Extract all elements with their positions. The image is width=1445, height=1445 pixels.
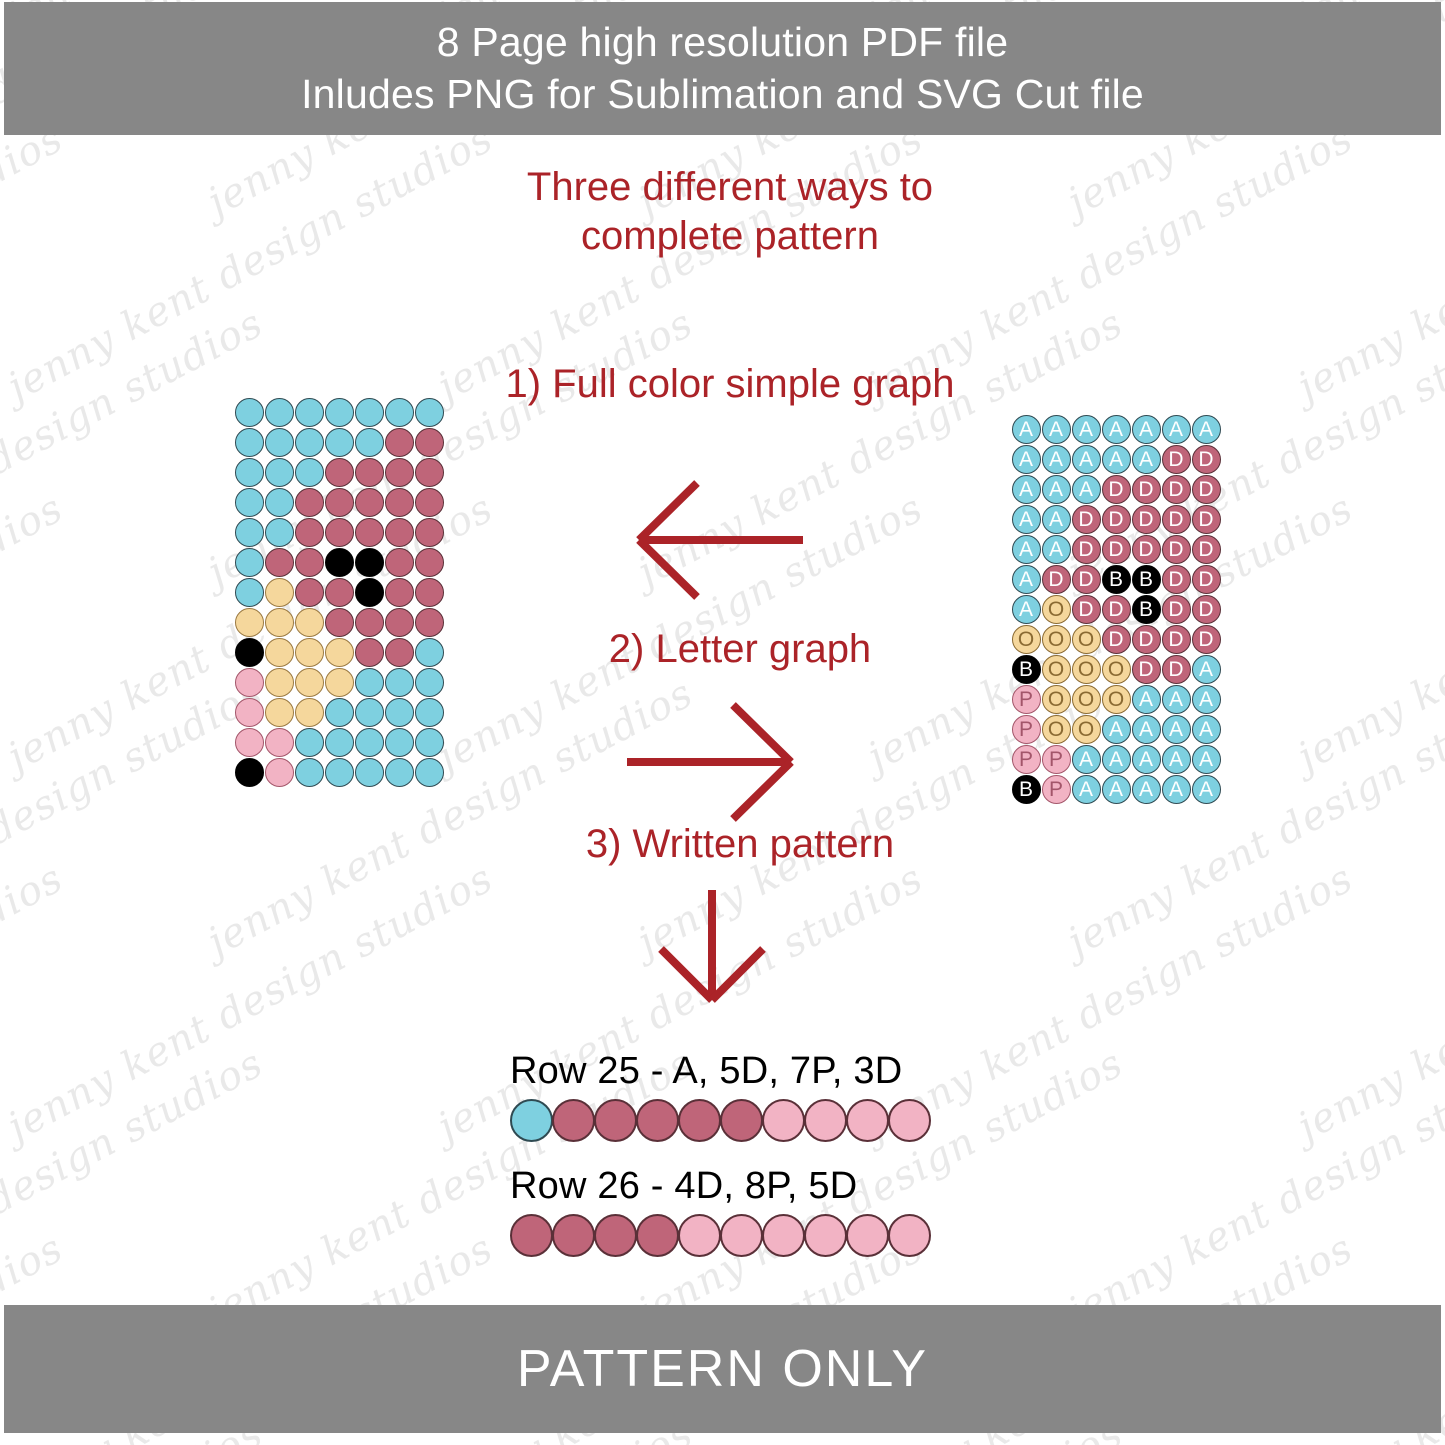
bead-grid-row: AAAAADD xyxy=(1011,444,1221,474)
bead-grid-row xyxy=(234,727,444,757)
bead-grid-row xyxy=(234,427,444,457)
bead-O: O xyxy=(1072,685,1101,714)
bead-grid-row xyxy=(234,607,444,637)
written-row-25-label: Row 25 - A, 5D, 7P, 3D xyxy=(510,1050,930,1093)
bead-A: A xyxy=(1192,415,1221,444)
bead-B xyxy=(235,758,264,787)
bead-D: D xyxy=(1042,565,1071,594)
bead-O xyxy=(265,698,294,727)
bead-A xyxy=(265,428,294,457)
bead-D: D xyxy=(1132,475,1161,504)
bead-A xyxy=(415,398,444,427)
arrow-down-icon xyxy=(655,885,780,1010)
step-3-label: 3) Written pattern xyxy=(530,820,950,869)
bead-A xyxy=(295,758,324,787)
bead-B: B xyxy=(1132,595,1161,624)
bead-A xyxy=(355,398,384,427)
bead-D: D xyxy=(1072,565,1101,594)
bead-O: O xyxy=(1072,625,1101,654)
bead-A xyxy=(235,548,264,577)
bead-A: A xyxy=(1072,775,1101,804)
bead-A xyxy=(325,758,354,787)
top-banner: 8 Page high resolution PDF file Inludes … xyxy=(4,2,1441,135)
bead-P xyxy=(720,1214,763,1257)
bead-A: A xyxy=(1132,715,1161,744)
watermark-text: jenny kent design studios xyxy=(0,855,71,1150)
bead-D xyxy=(415,578,444,607)
watermark-text: jenny kent design studios xyxy=(0,855,501,1150)
written-row-26-beads xyxy=(510,1214,930,1257)
bead-D xyxy=(415,488,444,517)
arrow-right-icon xyxy=(625,700,805,825)
bead-A xyxy=(415,758,444,787)
bead-grid-row: OOODDDD xyxy=(1011,624,1221,654)
watermark-text: jenny kent design studios xyxy=(0,1040,271,1335)
bead-A: A xyxy=(1162,715,1191,744)
bead-P: P xyxy=(1012,685,1041,714)
bead-D: D xyxy=(1162,625,1191,654)
bead-A: A xyxy=(1072,475,1101,504)
instructions-title: Three different ways to complete pattern xyxy=(520,163,940,261)
bead-D: D xyxy=(1162,595,1191,624)
bead-A xyxy=(355,758,384,787)
watermark-text: jenny kent design studios xyxy=(1290,485,1445,780)
bead-D xyxy=(355,608,384,637)
bead-D xyxy=(325,608,354,637)
bead-B xyxy=(235,638,264,667)
bead-grid-row xyxy=(234,577,444,607)
bead-A xyxy=(295,458,324,487)
bead-D xyxy=(385,608,414,637)
bead-A xyxy=(235,578,264,607)
bead-D xyxy=(385,428,414,457)
watermark-text: jenny kent design studios xyxy=(1290,855,1445,1150)
bead-A: A xyxy=(1192,655,1221,684)
bead-A xyxy=(295,398,324,427)
bead-A: A xyxy=(1012,595,1041,624)
bead-P xyxy=(265,758,294,787)
bead-P xyxy=(846,1214,889,1257)
bead-A xyxy=(415,638,444,667)
bead-A: A xyxy=(1192,685,1221,714)
bead-P: P xyxy=(1042,745,1071,774)
bead-D: D xyxy=(1102,625,1131,654)
bead-D xyxy=(355,518,384,547)
bead-O xyxy=(325,638,354,667)
bead-grid-row xyxy=(234,397,444,427)
bead-A xyxy=(235,488,264,517)
bead-A xyxy=(265,398,294,427)
bead-O: O xyxy=(1012,625,1041,654)
letter-graph: AAAAAAAAAAAADDAAADDDDAADDDDDAADDDDDADDBB… xyxy=(1011,414,1221,804)
bead-O: O xyxy=(1102,655,1131,684)
watermark-text: jenny kent design studios xyxy=(1290,115,1445,410)
bead-grid-row xyxy=(234,547,444,577)
bead-A xyxy=(385,758,414,787)
bead-P xyxy=(762,1214,805,1257)
bead-D xyxy=(325,458,354,487)
bead-A xyxy=(385,668,414,697)
bead-D: D xyxy=(1102,595,1131,624)
bead-O: O xyxy=(1102,685,1131,714)
written-pattern-row-25: Row 25 - A, 5D, 7P, 3D xyxy=(510,1050,930,1142)
written-row-26-label: Row 26 - 4D, 8P, 5D xyxy=(510,1165,930,1208)
bead-A: A xyxy=(1102,745,1131,774)
bead-A: A xyxy=(1012,505,1041,534)
bead-O xyxy=(265,578,294,607)
bead-A xyxy=(295,728,324,757)
arrow-left-icon xyxy=(625,478,805,603)
bead-P: P xyxy=(1042,775,1071,804)
bead-A: A xyxy=(1162,775,1191,804)
bead-A xyxy=(325,728,354,757)
bead-D: D xyxy=(1162,535,1191,564)
bead-grid-row: PPAAAAA xyxy=(1011,744,1221,774)
bead-O xyxy=(265,668,294,697)
bead-D: D xyxy=(1192,535,1221,564)
bead-B xyxy=(355,578,384,607)
bead-A xyxy=(355,698,384,727)
bead-grid-row xyxy=(234,757,444,787)
bead-D xyxy=(415,548,444,577)
bead-A xyxy=(355,668,384,697)
written-row-25-beads xyxy=(510,1099,930,1142)
bead-grid-row xyxy=(234,457,444,487)
bead-D xyxy=(385,518,414,547)
bead-A: A xyxy=(1072,745,1101,774)
bead-D: D xyxy=(1072,535,1101,564)
bead-A xyxy=(355,728,384,757)
bead-P xyxy=(804,1099,847,1142)
bead-A: A xyxy=(1012,445,1041,474)
bead-A: A xyxy=(1102,775,1131,804)
bead-P: P xyxy=(1012,745,1041,774)
step-1-label: 1) Full color simple graph xyxy=(500,360,960,409)
bead-O: O xyxy=(1042,715,1071,744)
bead-D xyxy=(415,458,444,487)
bead-A: A xyxy=(1042,535,1071,564)
bead-D xyxy=(325,518,354,547)
bead-A: A xyxy=(1042,445,1071,474)
bead-A xyxy=(385,398,414,427)
bead-grid-row: BOOODDA xyxy=(1011,654,1221,684)
bead-O xyxy=(265,608,294,637)
watermark-text: jenny kent design studios xyxy=(1060,1040,1445,1335)
bead-A: A xyxy=(1042,475,1071,504)
bead-B: B xyxy=(1012,775,1041,804)
bead-D xyxy=(720,1099,763,1142)
bead-grid-row: BPAAAAA xyxy=(1011,774,1221,804)
bead-A xyxy=(325,698,354,727)
bead-A xyxy=(265,458,294,487)
bead-P xyxy=(235,728,264,757)
bead-D xyxy=(415,428,444,457)
bead-D: D xyxy=(1192,565,1221,594)
watermark-text: jenny kent design studios xyxy=(0,485,71,780)
bead-O xyxy=(295,608,324,637)
bead-D: D xyxy=(1072,505,1101,534)
bead-A: A xyxy=(1132,415,1161,444)
bead-D: D xyxy=(1162,565,1191,594)
bead-D: D xyxy=(1162,445,1191,474)
bead-D xyxy=(355,488,384,517)
top-banner-line-2: Inludes PNG for Sublimation and SVG Cut … xyxy=(301,69,1144,120)
step-2-label: 2) Letter graph xyxy=(540,625,940,674)
bead-D xyxy=(552,1099,595,1142)
bead-D xyxy=(295,488,324,517)
bead-grid-row: POOOAAA xyxy=(1011,684,1221,714)
bead-D xyxy=(385,548,414,577)
bead-P xyxy=(265,728,294,757)
bead-A xyxy=(235,518,264,547)
bead-P xyxy=(888,1099,931,1142)
bead-O xyxy=(265,638,294,667)
bead-A xyxy=(325,428,354,457)
bead-A: A xyxy=(1162,685,1191,714)
watermark-text: jenny kent design studios xyxy=(860,855,1361,1150)
bead-O xyxy=(295,638,324,667)
bead-P xyxy=(888,1214,931,1257)
bead-P xyxy=(804,1214,847,1257)
bead-P xyxy=(678,1214,721,1257)
bead-A xyxy=(325,398,354,427)
bead-A: A xyxy=(1042,415,1071,444)
bead-A xyxy=(415,698,444,727)
bead-P: P xyxy=(1012,715,1041,744)
bead-D xyxy=(325,578,354,607)
bead-D: D xyxy=(1162,655,1191,684)
bottom-banner: PATTERN ONLY xyxy=(4,1305,1441,1433)
bead-A xyxy=(415,668,444,697)
bead-A xyxy=(415,728,444,757)
bead-D xyxy=(510,1214,553,1257)
bead-D: D xyxy=(1102,535,1131,564)
bead-D xyxy=(295,548,324,577)
bead-grid-row xyxy=(234,637,444,667)
watermark-text: jenny kent design studios xyxy=(0,300,271,595)
bead-grid-row: AADDDDD xyxy=(1011,534,1221,564)
watermark-text: jenny kent design studios xyxy=(0,115,501,410)
bead-D: D xyxy=(1192,505,1221,534)
bead-grid-row xyxy=(234,517,444,547)
bead-O xyxy=(295,668,324,697)
bead-B: B xyxy=(1102,565,1131,594)
bead-D xyxy=(385,488,414,517)
bead-O: O xyxy=(1072,715,1101,744)
bead-O: O xyxy=(1042,625,1071,654)
bead-A: A xyxy=(1192,745,1221,774)
bead-D xyxy=(594,1099,637,1142)
bead-D: D xyxy=(1192,445,1221,474)
bead-grid-row: ADDBBDD xyxy=(1011,564,1221,594)
bead-A: A xyxy=(1132,745,1161,774)
bead-P xyxy=(235,668,264,697)
bead-D: D xyxy=(1162,475,1191,504)
bead-D: D xyxy=(1102,475,1131,504)
bead-A: A xyxy=(1102,445,1131,474)
bead-D xyxy=(594,1214,637,1257)
bead-A: A xyxy=(1132,445,1161,474)
bead-D xyxy=(552,1214,595,1257)
bead-A: A xyxy=(1012,475,1041,504)
bead-D xyxy=(636,1214,679,1257)
bead-D: D xyxy=(1132,535,1161,564)
bead-B: B xyxy=(1012,655,1041,684)
bead-P xyxy=(235,698,264,727)
bead-A: A xyxy=(1192,775,1221,804)
bead-D xyxy=(415,608,444,637)
bead-D xyxy=(325,488,354,517)
bead-B: B xyxy=(1132,565,1161,594)
bead-O xyxy=(295,698,324,727)
bead-P xyxy=(846,1099,889,1142)
bead-D: D xyxy=(1162,505,1191,534)
bead-A xyxy=(265,518,294,547)
bead-D xyxy=(295,518,324,547)
bead-D: D xyxy=(1132,655,1161,684)
bead-A: A xyxy=(1192,715,1221,744)
bead-D xyxy=(385,638,414,667)
bead-B xyxy=(355,548,384,577)
bead-B xyxy=(325,548,354,577)
bead-O xyxy=(235,608,264,637)
bead-A xyxy=(265,488,294,517)
bead-A: A xyxy=(1042,505,1071,534)
bead-A xyxy=(385,698,414,727)
written-pattern-row-26: Row 26 - 4D, 8P, 5D xyxy=(510,1165,930,1257)
watermark-text: jenny kent design studios xyxy=(0,670,271,965)
bead-A: A xyxy=(1072,415,1101,444)
bead-A: A xyxy=(1162,745,1191,774)
bead-A: A xyxy=(1012,415,1041,444)
bead-O: O xyxy=(1072,655,1101,684)
bead-O: O xyxy=(1042,685,1071,714)
bead-D: D xyxy=(1072,595,1101,624)
bead-grid-row xyxy=(234,697,444,727)
bead-D xyxy=(385,458,414,487)
bead-D xyxy=(636,1099,679,1142)
bead-D xyxy=(295,578,324,607)
bead-D: D xyxy=(1192,595,1221,624)
top-banner-line-1: 8 Page high resolution PDF file xyxy=(437,17,1008,68)
bead-A: A xyxy=(1132,775,1161,804)
bead-D xyxy=(678,1099,721,1142)
bead-grid-row xyxy=(234,487,444,517)
bead-grid-row: AAAAAAA xyxy=(1011,414,1221,444)
bead-A: A xyxy=(1012,535,1041,564)
bead-A xyxy=(385,728,414,757)
bead-D xyxy=(415,518,444,547)
bead-grid-row: AAADDDD xyxy=(1011,474,1221,504)
bead-O: O xyxy=(1042,655,1071,684)
bead-D xyxy=(385,578,414,607)
bead-grid-row: POOAAAA xyxy=(1011,714,1221,744)
bead-A xyxy=(295,428,324,457)
bead-A xyxy=(355,428,384,457)
bead-D xyxy=(355,458,384,487)
bead-P xyxy=(762,1099,805,1142)
bead-grid-row: AODDBDD xyxy=(1011,594,1221,624)
bead-D: D xyxy=(1192,475,1221,504)
bead-D: D xyxy=(1192,625,1221,654)
bead-D xyxy=(355,638,384,667)
bottom-banner-text: PATTERN ONLY xyxy=(517,1339,928,1399)
bead-D: D xyxy=(1132,505,1161,534)
bead-A: A xyxy=(1102,415,1131,444)
watermark-text: jenny kent design studios xyxy=(0,115,71,410)
pattern-preview-page: jenny kent design studiosjenny kent desi… xyxy=(0,0,1445,1445)
bead-A: A xyxy=(1162,415,1191,444)
bead-D: D xyxy=(1102,505,1131,534)
bead-A: A xyxy=(1102,715,1131,744)
full-color-graph xyxy=(234,397,444,787)
bead-A xyxy=(235,398,264,427)
bead-A: A xyxy=(1132,685,1161,714)
bead-D: D xyxy=(1132,625,1161,654)
bead-D xyxy=(265,548,294,577)
bead-grid-row xyxy=(234,667,444,697)
bead-A: A xyxy=(1012,565,1041,594)
bead-A xyxy=(235,458,264,487)
bead-A xyxy=(235,428,264,457)
bead-O: O xyxy=(1042,595,1071,624)
bead-O xyxy=(325,668,354,697)
bead-grid-row: AADDDDD xyxy=(1011,504,1221,534)
bead-A xyxy=(510,1099,553,1142)
bead-A: A xyxy=(1072,445,1101,474)
